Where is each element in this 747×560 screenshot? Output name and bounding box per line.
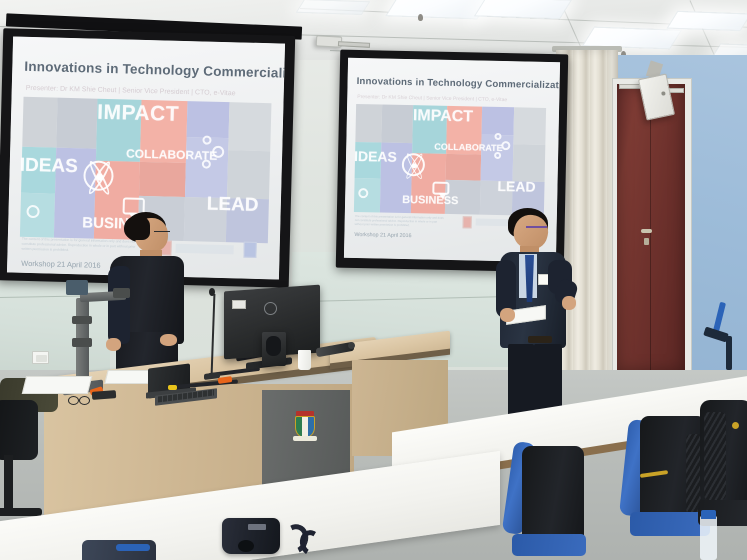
hku-crest — [292, 411, 318, 441]
collage-photo-block — [228, 102, 271, 151]
lecture-hall-screenshot: Innovations in Technology Commercializat… — [0, 0, 747, 560]
ceiling-light-panel — [474, 0, 572, 19]
hand-right — [160, 334, 177, 346]
collage-photo-block — [227, 150, 270, 199]
presentation-remote[interactable] — [92, 390, 116, 400]
speech-bubble-icon — [432, 182, 449, 195]
gooseneck-microphone-capsule — [209, 288, 215, 296]
collage-word-business: BUSINESS — [402, 194, 458, 207]
eyeglasses — [526, 226, 547, 230]
slide-footer: Workshop 21 April 2016 — [21, 259, 101, 270]
leg-left — [508, 344, 534, 418]
handheld-microphone-head — [348, 342, 355, 349]
document-camera-head — [66, 280, 88, 295]
collage-color-block — [482, 107, 515, 136]
entrance-door[interactable] — [617, 84, 685, 372]
door-lock[interactable] — [644, 238, 649, 245]
yellow-cable-clip[interactable] — [168, 385, 177, 390]
water-bottle[interactable] — [700, 516, 717, 560]
eyeglasses — [154, 231, 170, 235]
collage-word-ideas: IDEAS — [354, 148, 397, 165]
document-camera-joint — [72, 316, 92, 324]
collage-photo-block — [513, 107, 546, 145]
collage-photo-block — [381, 105, 413, 144]
collage-word-lead: LEAD — [207, 194, 259, 217]
chair-mesh-panel — [704, 412, 726, 500]
document-camera-joint — [72, 338, 92, 347]
chair-backrest — [522, 446, 584, 542]
collage-photo-block — [355, 104, 382, 143]
door-panel-seam — [650, 84, 651, 372]
sprinkler-head — [418, 14, 423, 21]
collage-word-impact: IMPACT — [97, 101, 180, 127]
water-bottle-cap[interactable] — [701, 510, 716, 519]
collage-word-lead: LEAD — [497, 178, 535, 195]
collage-color-block — [446, 154, 482, 181]
collage-color-block — [187, 101, 230, 138]
floor-microphone-stand-column — [726, 336, 732, 370]
slide-title: Innovations in Technology Commercializat… — [24, 59, 285, 82]
camera-bag-label — [248, 524, 266, 530]
eyeglasses[interactable] — [68, 396, 90, 404]
collage-color-block — [139, 162, 186, 197]
collage-photo-block — [513, 144, 546, 182]
door-closer-left — [619, 84, 641, 89]
crest-motto-scroll — [293, 436, 317, 441]
slide-presenter-line: Presenter: Dr KM Shie Cheut | Senior Vic… — [26, 85, 236, 97]
slide-presenter-line: Presenter: Dr KM Shie Cheut | Senior Vic… — [357, 94, 507, 103]
person-presenting — [494, 208, 590, 418]
carry-bag-strap[interactable] — [116, 544, 150, 551]
paper-sheet[interactable] — [22, 376, 92, 394]
slide-footer: Workshop 21 April 2016 — [354, 232, 411, 239]
collage-word-impact: IMPACT — [413, 107, 474, 126]
collage-photo-block — [56, 98, 97, 149]
paper-sheet[interactable] — [104, 370, 151, 384]
belt — [528, 336, 552, 343]
chair-adjust-knob[interactable] — [732, 422, 739, 429]
slide-fineprint: The content of this presentation is for … — [355, 214, 447, 228]
camera-bag-lens-bulge — [238, 540, 254, 552]
ceiling-light-panel — [667, 11, 747, 31]
chair-dark-left[interactable] — [0, 400, 38, 460]
ceiling-light-panel — [385, 0, 490, 19]
chair-seat — [512, 534, 586, 556]
tower-vent — [266, 336, 281, 356]
document-camera-lens-housing — [113, 288, 130, 298]
dell-circle-logo — [264, 302, 277, 315]
tto-logo — [243, 242, 256, 258]
monitor-asset-label — [232, 300, 246, 309]
hku-wordmark-logo — [463, 216, 472, 228]
hair — [124, 216, 150, 240]
collage-photo-block — [22, 97, 57, 148]
collage-word-collaborate: COLLABORATE — [434, 142, 503, 153]
slide-title: Innovations in Technology Commercializat… — [357, 76, 561, 92]
chair-column — [4, 455, 13, 515]
chair-blue-1[interactable] — [508, 442, 590, 560]
arm-left — [108, 266, 130, 344]
crest-shield — [295, 416, 315, 438]
paper-cup[interactable] — [298, 350, 311, 370]
power-socket — [32, 351, 49, 364]
hand-left — [106, 338, 121, 351]
chair-base — [0, 508, 42, 516]
ceiling-light-panel — [296, 0, 371, 15]
hand-right — [562, 296, 576, 310]
collage-word-ideas: IDEAS — [19, 155, 78, 179]
slide-collage: IMPACT IDEAS COLLABORATE BUSINESS LEAD — [354, 104, 546, 216]
hand-left — [500, 308, 515, 322]
door-handle[interactable] — [641, 229, 652, 233]
